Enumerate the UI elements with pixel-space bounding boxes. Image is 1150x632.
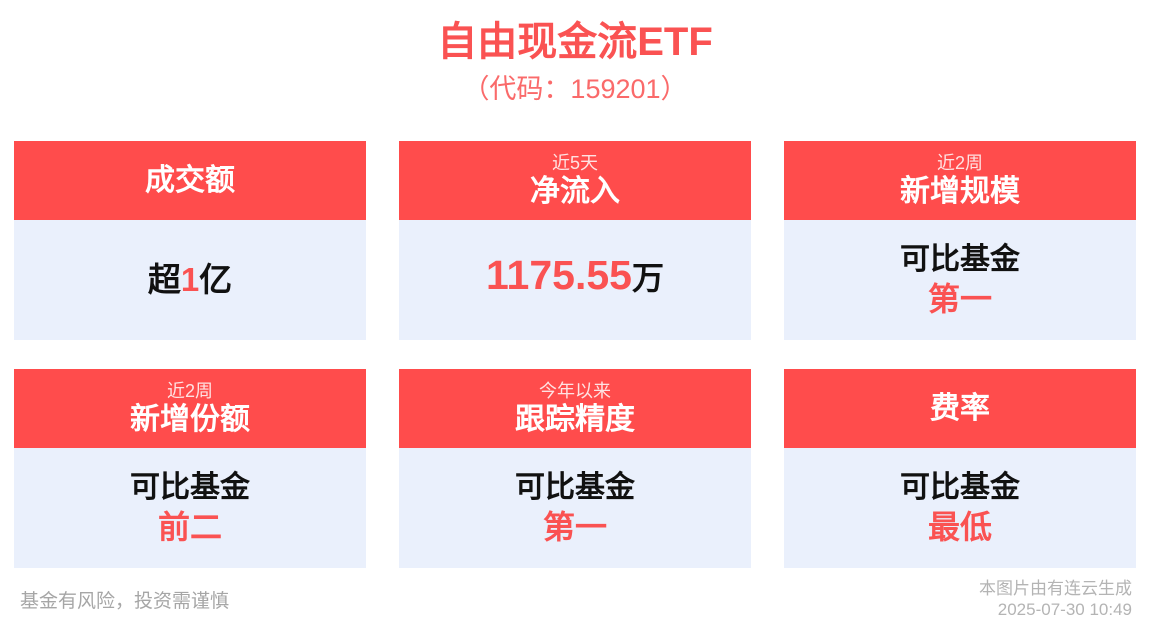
- card-header-period: 近2周: [167, 381, 213, 402]
- value-number: 1175.55: [486, 252, 632, 298]
- card-header-title: 费率: [930, 391, 990, 426]
- card-body-fee-rate: 可比基金 最低: [784, 448, 1136, 568]
- credit-timestamp: 2025-07-30 10:49: [979, 599, 1132, 620]
- card-value-caption: 可比基金: [515, 469, 635, 507]
- card-value-net-inflow: 1175.55万: [486, 251, 664, 309]
- card-value-rank: 第一: [928, 279, 992, 319]
- card-body-share-growth: 可比基金 前二: [14, 448, 366, 568]
- value-prefix: 超: [148, 261, 181, 298]
- card-body-tracking-accuracy: 可比基金 第一: [399, 448, 751, 568]
- card-header-period: 近5天: [552, 153, 598, 174]
- metric-card-fee-rate: 费率 可比基金 最低: [784, 369, 1136, 568]
- card-value-caption: 可比基金: [900, 469, 1020, 507]
- metric-card-tracking-accuracy: 今年以来 跟踪精度 可比基金 第一: [399, 369, 751, 568]
- image-credit: 本图片由有连云生成 2025-07-30 10:49: [979, 578, 1132, 620]
- card-header-turnover: 成交额: [14, 141, 366, 220]
- card-value-caption: 可比基金: [130, 469, 250, 507]
- card-header-title: 新增份额: [130, 402, 250, 437]
- card-header-net-inflow: 近5天 净流入: [399, 141, 751, 220]
- risk-disclaimer: 基金有风险，投资需谨慎: [20, 590, 229, 620]
- page-title: 自由现金流ETF: [0, 18, 1150, 66]
- card-header-tracking-accuracy: 今年以来 跟踪精度: [399, 369, 751, 448]
- page-header: 自由现金流ETF （代码：159201）: [0, 0, 1150, 109]
- page-footer: 基金有风险，投资需谨慎 本图片由有连云生成 2025-07-30 10:49: [0, 570, 1150, 632]
- card-header-fee-rate: 费率: [784, 369, 1136, 448]
- card-header-title: 净流入: [530, 174, 620, 209]
- card-value-caption: 可比基金: [900, 241, 1020, 279]
- card-body-scale-growth: 可比基金 第一: [784, 220, 1136, 340]
- value-suffix: 亿: [199, 261, 232, 298]
- card-value-rank: 第一: [543, 507, 607, 547]
- card-header-title: 成交额: [145, 163, 235, 198]
- metric-card-grid: 成交额 超1亿 近5天 净流入 1175.55万 近2周 新增规模 可比基金 第…: [14, 141, 1136, 568]
- card-value-turnover: 超1亿: [148, 258, 232, 302]
- card-body-turnover: 超1亿: [14, 220, 366, 340]
- card-header-share-growth: 近2周 新增份额: [14, 369, 366, 448]
- metric-card-share-growth: 近2周 新增份额 可比基金 前二: [14, 369, 366, 568]
- card-header-period: 今年以来: [539, 381, 611, 402]
- metric-card-turnover: 成交额 超1亿: [14, 141, 366, 340]
- metric-card-scale-growth: 近2周 新增规模 可比基金 第一: [784, 141, 1136, 340]
- card-header-scale-growth: 近2周 新增规模: [784, 141, 1136, 220]
- card-value-rank: 前二: [158, 507, 222, 547]
- card-body-net-inflow: 1175.55万: [399, 220, 751, 340]
- card-header-title: 新增规模: [900, 174, 1020, 209]
- card-header-title: 跟踪精度: [515, 402, 635, 437]
- card-header-period: 近2周: [937, 153, 983, 174]
- credit-source: 本图片由有连云生成: [979, 578, 1132, 599]
- metric-card-net-inflow: 近5天 净流入 1175.55万: [399, 141, 751, 340]
- card-value-rank: 最低: [928, 507, 992, 547]
- value-unit: 万: [632, 260, 664, 296]
- page-subtitle-code: （代码：159201）: [0, 69, 1150, 109]
- value-accent: 1: [181, 261, 199, 298]
